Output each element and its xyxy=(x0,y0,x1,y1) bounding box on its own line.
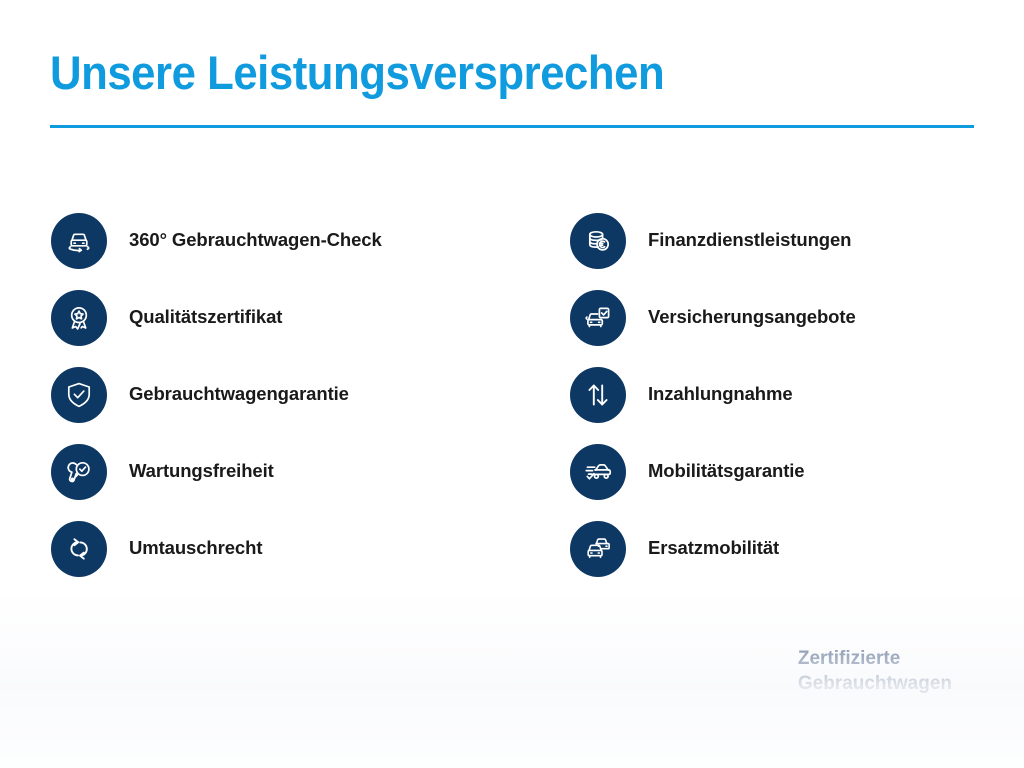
feature-label: Umtauschrecht xyxy=(129,537,262,559)
feature-item-inzahlungnahme[interactable]: Inzahlungnahme xyxy=(570,356,981,433)
car-360-rotation-icon xyxy=(51,213,107,269)
feature-item-gebrauchtwagengarantie[interactable]: Gebrauchtwagengarantie xyxy=(51,356,570,433)
feature-label: 360° Gebrauchtwagen-Check xyxy=(129,229,382,251)
feature-item-gebrauchtwagen-check[interactable]: 360° Gebrauchtwagen-Check xyxy=(51,202,570,279)
arrows-up-down-icon xyxy=(570,367,626,423)
feature-grid: 360° Gebrauchtwagen-Check Finanzdienstle… xyxy=(51,202,981,587)
feature-item-finanzdienstleistungen[interactable]: Finanzdienstleistungen xyxy=(570,202,981,279)
car-speed-check-icon xyxy=(570,444,626,500)
page-title: Unsere Leistungsversprechen xyxy=(50,48,909,97)
slide-root: Unsere Leistungsversprechen 360° Gebrauc… xyxy=(0,0,1024,768)
feature-label: Mobilitätsgarantie xyxy=(648,460,805,482)
feature-label: Qualitätszertifikat xyxy=(129,306,282,328)
feature-label: Ersatzmobilität xyxy=(648,537,779,559)
feature-item-ersatzmobilitaet[interactable]: Ersatzmobilität xyxy=(570,510,981,587)
brand-line-1: Zertifizierte xyxy=(798,646,952,671)
coins-euro-icon xyxy=(570,213,626,269)
two-cars-icon xyxy=(570,521,626,577)
feature-label: Finanzdienstleistungen xyxy=(648,229,851,251)
feature-item-qualitaetszertifikat[interactable]: Qualitätszertifikat xyxy=(51,279,570,356)
feature-item-umtauschrecht[interactable]: Umtauschrecht xyxy=(51,510,570,587)
brand-line-2: Gebrauchtwagen xyxy=(798,671,952,696)
award-ribbon-star-icon xyxy=(51,290,107,346)
feature-label: Inzahlungnahme xyxy=(648,383,793,405)
exchange-arrows-icon xyxy=(51,521,107,577)
feature-item-mobilitaetsgarantie[interactable]: Mobilitätsgarantie xyxy=(570,433,981,510)
car-checkbox-icon xyxy=(570,290,626,346)
wrench-gear-check-icon xyxy=(51,444,107,500)
brand-lockup: Zertifizierte Gebrauchtwagen xyxy=(798,646,952,696)
feature-item-versicherungsangebote[interactable]: Versicherungsangebote xyxy=(570,279,981,356)
feature-label: Versicherungsangebote xyxy=(648,306,856,328)
feature-label: Wartungsfreiheit xyxy=(129,460,274,482)
feature-label: Gebrauchtwagengarantie xyxy=(129,383,349,405)
slide-header: Unsere Leistungsversprechen xyxy=(50,48,974,128)
title-divider xyxy=(50,125,974,128)
shield-check-icon xyxy=(51,367,107,423)
feature-item-wartungsfreiheit[interactable]: Wartungsfreiheit xyxy=(51,433,570,510)
